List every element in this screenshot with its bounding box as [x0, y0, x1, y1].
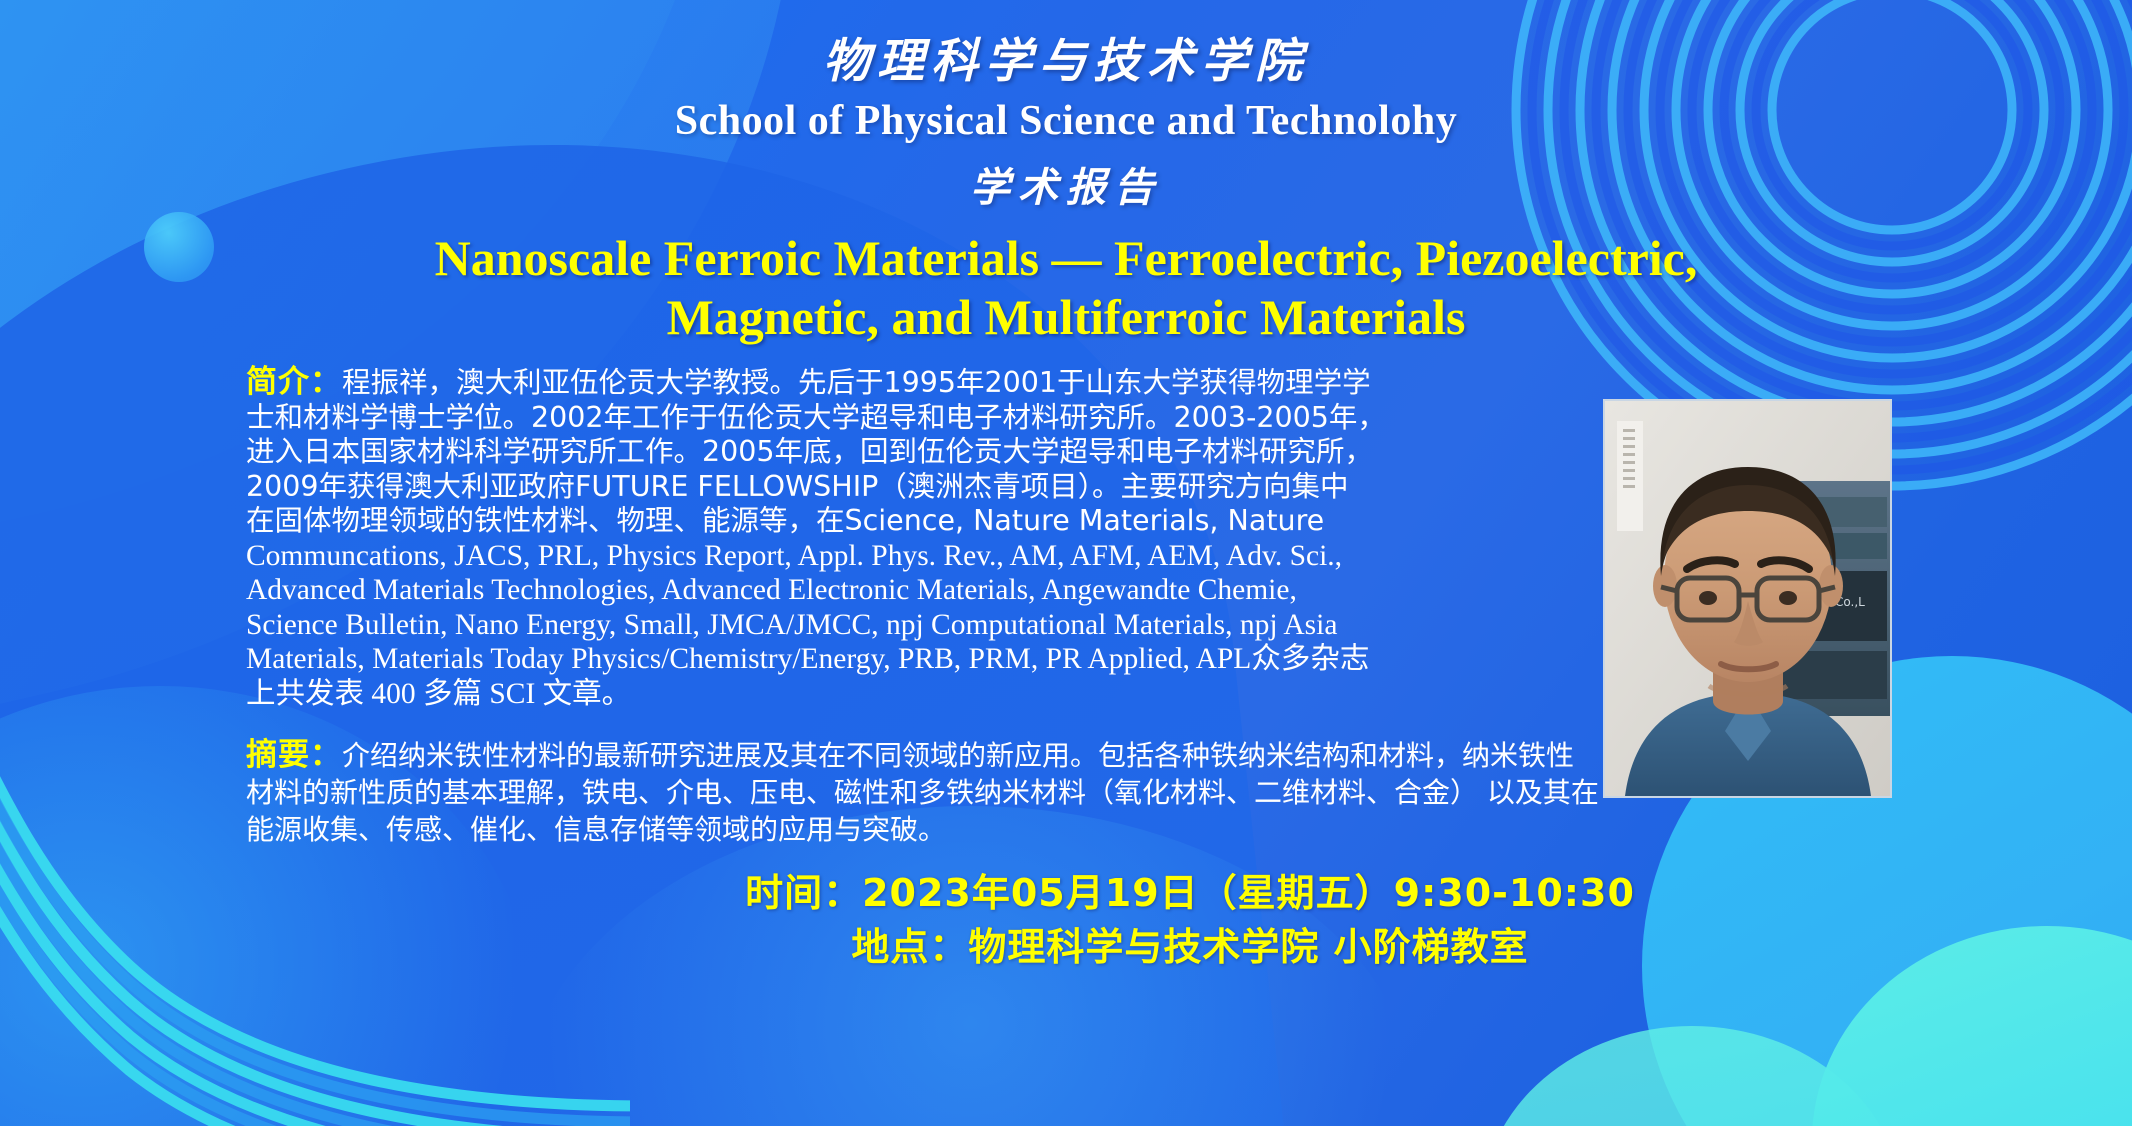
speaker-bio-section: 简介：程振祥，澳大利亚伍伦贡大学教授。先后于1995年2001于山东大学获得物理… — [246, 365, 1581, 711]
bio-first-line: 简介：程振祥，澳大利亚伍伦贡大学教授。先后于1995年2001于山东大学获得物理… — [246, 365, 1581, 401]
abstract-label: 摘要： — [246, 737, 342, 773]
event-type-label: 学术报告 — [0, 155, 2132, 213]
abstract-first-line: 摘要：介绍纳米铁性材料的最新研究进展及其在不同领域的新应用。包括各种铁纳米结构和… — [246, 737, 1906, 774]
talk-title-line-1: Nanoscale Ferroic Materials — Ferroelect… — [64, 229, 2068, 288]
abstract-line: 材料的新性质的基本理解，铁电、介电、压电、磁性和多铁纳米材料（氧化材料、二维材料… — [246, 774, 1906, 811]
abstract-line: 能源收集、传感、催化、信息存储等领域的应用与突破。 — [246, 811, 1906, 848]
poster-content: 物理科学与技术学院 School of Physical Science and… — [0, 0, 2132, 974]
seminar-poster: 物理科学与技术学院 School of Physical Science and… — [0, 0, 2132, 1126]
bio-line: 在固体物理领域的铁性材料、物理、能源等，在Science, Nature Mat… — [246, 504, 1581, 539]
event-time: 时间：2023年05月19日（星期五）9:30-10:30 — [306, 866, 2074, 920]
bio-line: 士和材料学博士学位。2002年工作于伍伦贡大学超导和电子材料研究所。2003-2… — [246, 401, 1581, 436]
abstract-section: 摘要：介绍纳米铁性材料的最新研究进展及其在不同领域的新应用。包括各种铁纳米结构和… — [246, 737, 1906, 848]
bio-line: Materials, Materials Today Physics/Chemi… — [246, 642, 1581, 677]
talk-title: Nanoscale Ferroic Materials — Ferroelect… — [64, 229, 2068, 347]
bio-line: Advanced Materials Technologies, Advance… — [246, 573, 1581, 608]
event-location: 地点：物理科学与技术学院 小阶梯教室 — [306, 920, 2074, 974]
bio-label: 简介： — [246, 364, 342, 400]
bio-line: 2009年获得澳大利亚政府FUTURE FELLOWSHIP（澳洲杰青项目）。主… — [246, 470, 1581, 505]
abstract-line: 介绍纳米铁性材料的最新研究进展及其在不同领域的新应用。包括各种铁纳米结构和材料，… — [342, 739, 1574, 772]
bio-line: Science Bulletin, Nano Energy, Small, JM… — [246, 608, 1581, 643]
bio-line: Communcations, JACS, PRL, Physics Report… — [246, 539, 1581, 574]
event-details: 时间：2023年05月19日（星期五）9:30-10:30 地点：物理科学与技术… — [246, 866, 2074, 974]
bio-line: 上共发表 400 多篇 SCI 文章。 — [246, 677, 1581, 712]
bio-line: 程振祥，澳大利亚伍伦贡大学教授。先后于1995年2001于山东大学获得物理学学 — [342, 366, 1371, 399]
talk-title-line-2: Magnetic, and Multiferroic Materials — [64, 288, 2068, 347]
institution-name-cn: 物理科学与技术学院 — [0, 0, 2132, 91]
poster-body: 简介：程振祥，澳大利亚伍伦贡大学教授。先后于1995年2001于山东大学获得物理… — [0, 365, 2132, 974]
decorative-blob-bottom — [1482, 1026, 1902, 1126]
institution-name-en: School of Physical Science and Technoloh… — [0, 97, 2132, 145]
bio-line: 进入日本国家材料科学研究所工作。2005年底，回到伍伦贡大学超导和电子材料研究所… — [246, 435, 1581, 470]
